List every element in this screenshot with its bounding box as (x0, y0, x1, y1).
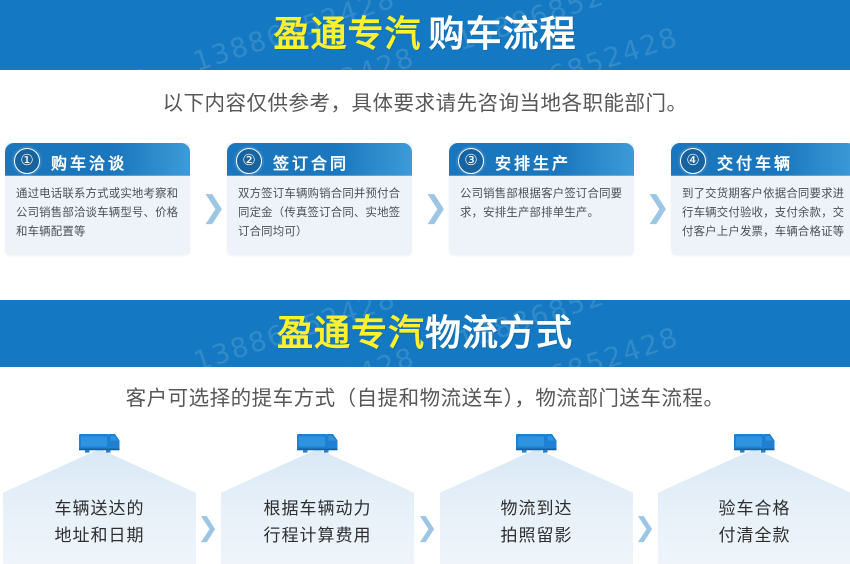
step-body-text: 双方签订车辆购销合同并预付合同定金（传真签订合同、实地签订合同均可） (227, 176, 412, 241)
step-title: 签订合同 (273, 150, 349, 174)
truck-icon (515, 431, 559, 455)
step-number-badge: ② (236, 148, 262, 174)
logistics-card-3[interactable]: 物流到达 拍照留影 (440, 449, 633, 564)
logistics-steps-row: 车辆送达的 地址和日期 ❯ 根据车辆动力 行程计算费用 ❯ (0, 430, 850, 564)
logistics-line-2: 拍照留影 (440, 523, 633, 550)
banner-purchase-process: 138868524281388685242813886852428 138868… (0, 0, 850, 70)
logistics-card-text: 根据车辆动力 行程计算费用 (221, 496, 414, 550)
logistics-line-2: 付清全款 (658, 523, 850, 550)
logistics-line-1: 根据车辆动力 (221, 496, 414, 523)
logistics-card-4[interactable]: 验车合格 付清全款 (658, 449, 850, 564)
step-title: 购车洽谈 (51, 150, 127, 174)
logistics-card-text: 车辆送达的 地址和日期 (3, 496, 196, 550)
step-title: 安排生产 (495, 150, 571, 174)
banner-title-rest: 物流方式 (425, 313, 573, 354)
chevron-right-icon: ❯ (197, 513, 219, 543)
step-header-2: ② 签订合同 (227, 143, 412, 176)
chevron-right-icon: ❯ (416, 513, 438, 543)
step-card-2[interactable]: ② 签订合同 双方签订车辆购销合同并预付合同定金（传真签订合同、实地签订合同均可… (227, 143, 412, 255)
step-body-text: 通过电话联系方式或实地考察和公司销售部洽谈车辆型号、价格和车辆配置等 (5, 176, 190, 241)
step-title: 交付车辆 (717, 150, 793, 174)
banner-title-highlight: 盈通专汽 (277, 313, 425, 354)
truck-icon (78, 431, 122, 455)
step-number-badge: ③ (458, 148, 484, 174)
step-card-3[interactable]: ③ 安排生产 公司销售部根据客户签订合同要求，安排生产部排单生产。 (449, 143, 634, 255)
step-body-text: 公司销售部根据客户签订合同要求，安排生产部排单生产。 (449, 176, 634, 222)
banner-title-1: 盈通专汽购车流程 (0, 17, 850, 53)
logistics-card-text: 物流到达 拍照留影 (440, 496, 633, 550)
subtitle-purchase: 以下内容仅供参考，具体要求请先咨询当地各职能部门。 (0, 86, 850, 116)
banner-logistics-method: 138868524281388685242813886852428 138868… (0, 300, 850, 367)
logistics-line-2: 地址和日期 (3, 523, 196, 550)
step-header-4: ④ 交付车辆 (671, 143, 850, 176)
banner-title-rest: 购车流程 (429, 14, 577, 55)
chevron-right-icon: ❯ (423, 193, 448, 223)
logistics-line-1: 验车合格 (658, 496, 850, 523)
logistics-card-text: 验车合格 付清全款 (658, 496, 850, 550)
truck-icon (296, 431, 340, 455)
logistics-line-1: 车辆送达的 (3, 496, 196, 523)
step-header-1: ① 购车洽谈 (5, 143, 190, 176)
logistics-card-1[interactable]: 车辆送达的 地址和日期 (3, 449, 196, 564)
subtitle-logistics: 客户可选择的提车方式（自提和物流送车），物流部门送车流程。 (0, 381, 850, 411)
promo-page: 138868524281388685242813886852428 138868… (0, 0, 850, 564)
banner-title-2: 盈通专汽物流方式 (0, 316, 850, 352)
purchase-steps-row: ① 购车洽谈 通过电话联系方式或实地考察和公司销售部洽谈车辆型号、价格和车辆配置… (5, 143, 845, 255)
step-card-1[interactable]: ① 购车洽谈 通过电话联系方式或实地考察和公司销售部洽谈车辆型号、价格和车辆配置… (5, 143, 190, 255)
step-number-badge: ④ (680, 148, 706, 174)
chevron-right-icon: ❯ (645, 193, 670, 223)
logistics-line-2: 行程计算费用 (221, 523, 414, 550)
step-number-badge: ① (14, 148, 40, 174)
step-header-3: ③ 安排生产 (449, 143, 634, 176)
chevron-right-icon: ❯ (634, 513, 656, 543)
step-body-text: 到了交货期客户依据合同要求进行车辆交付验收，支付余款，交付客户上户发票，车辆合格… (671, 176, 850, 241)
banner-title-highlight: 盈通专汽 (273, 14, 421, 55)
logistics-line-1: 物流到达 (440, 496, 633, 523)
chevron-right-icon: ❯ (201, 193, 226, 223)
truck-icon (733, 431, 777, 455)
logistics-card-2[interactable]: 根据车辆动力 行程计算费用 (221, 449, 414, 564)
step-card-4[interactable]: ④ 交付车辆 到了交货期客户依据合同要求进行车辆交付验收，支付余款，交付客户上户… (671, 143, 850, 255)
